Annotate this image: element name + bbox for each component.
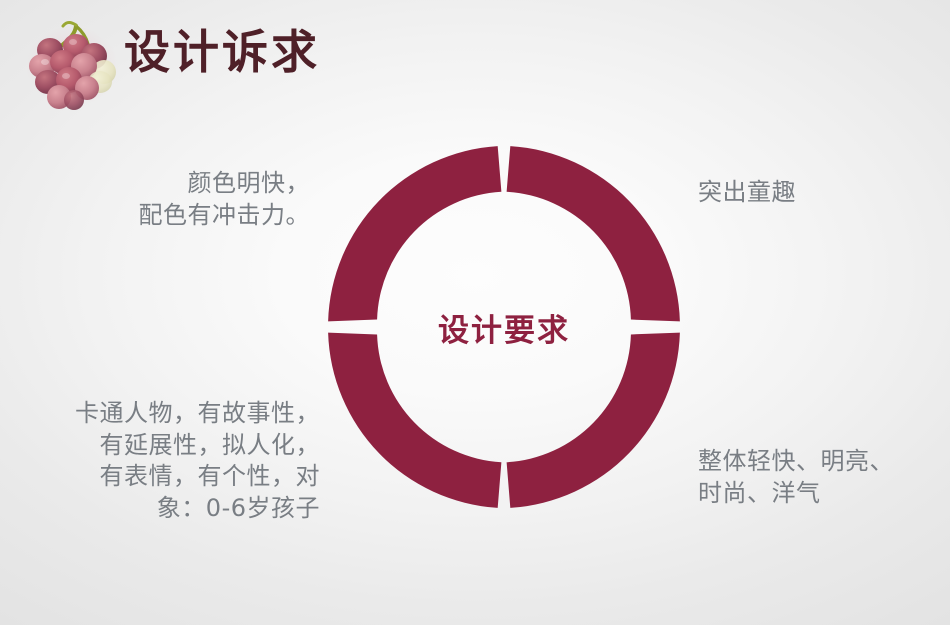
page-title: 设计诉求	[124, 27, 320, 78]
donut-segment-top-left	[328, 146, 501, 321]
donut-segment-bottom-left	[328, 333, 501, 508]
callout-top-left: 颜色明快， 配色有冲击力。	[20, 168, 310, 231]
segmented-donut-diagram: 设计要求	[318, 143, 690, 511]
callout-bottom-left: 卡通人物，有故事性， 有延展性，拟人化， 有表情，有个性，对 象：0-6岁孩子	[8, 398, 320, 525]
donut-segment-top-right	[507, 146, 680, 321]
donut-segment-bottom-right	[507, 333, 680, 508]
callout-bottom-right: 整体轻快、明亮、 时尚、洋气	[698, 446, 943, 509]
grape-bunch-icon	[16, 4, 126, 116]
slide-header: 设计诉求	[0, 0, 560, 120]
slide-canvas: 设计诉求 设计要求 颜色明快， 配色有冲击力。 突出童趣 卡通人物，有故事性， …	[0, 0, 950, 625]
callout-top-right: 突出童趣	[698, 177, 938, 209]
